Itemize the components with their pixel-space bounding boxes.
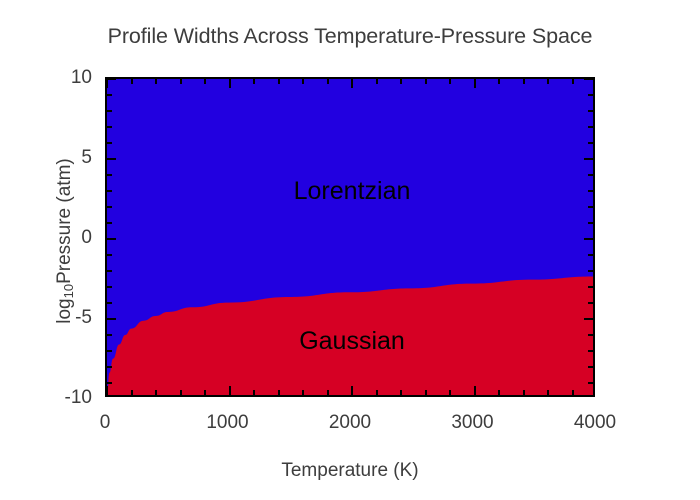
tick-y-minor-right xyxy=(588,302,593,304)
y-axis-title-subscript: 10 xyxy=(61,284,76,298)
tick-y-major-right xyxy=(584,318,593,320)
tick-y-minor xyxy=(107,94,112,96)
tick-y-minor xyxy=(107,350,112,352)
tick-x-minor-top xyxy=(253,79,255,84)
tick-x-minor-top xyxy=(400,79,402,84)
tick-y-minor xyxy=(107,142,112,144)
tick-y-minor xyxy=(107,334,112,336)
plot-svg xyxy=(107,79,593,395)
x-axis-title: Temperature (K) xyxy=(105,460,595,482)
page-title: Profile Widths Across Temperature-Pressu… xyxy=(0,24,700,49)
tick-x-minor-top xyxy=(204,79,206,84)
tick-y-minor xyxy=(107,254,112,256)
tick-x-minor xyxy=(572,390,574,395)
x-tick-label: 4000 xyxy=(535,413,655,432)
tick-y-major-right xyxy=(584,78,593,80)
tick-x-minor-top xyxy=(278,79,280,84)
y-axis-title-prefix: log xyxy=(54,298,75,323)
x-tick-label: 2000 xyxy=(290,413,410,432)
tick-x-minor xyxy=(327,390,329,395)
tick-y-minor-right xyxy=(588,382,593,384)
y-tick-label: 0 xyxy=(81,228,92,247)
tick-x-major-top xyxy=(106,79,108,88)
tick-x-minor-top xyxy=(131,79,133,84)
tick-x-major xyxy=(474,386,476,395)
tick-x-minor-top xyxy=(376,79,378,84)
tick-y-minor-right xyxy=(588,222,593,224)
tick-x-minor xyxy=(547,390,549,395)
tick-x-minor-top xyxy=(155,79,157,84)
tick-y-minor-right xyxy=(588,190,593,192)
tick-x-minor-top xyxy=(547,79,549,84)
tick-y-minor xyxy=(107,206,112,208)
tick-y-minor-right xyxy=(588,350,593,352)
tick-y-major-right xyxy=(584,238,593,240)
tick-y-minor xyxy=(107,302,112,304)
tick-y-minor-right xyxy=(588,206,593,208)
chart-root: Profile Widths Across Temperature-Pressu… xyxy=(0,0,700,500)
tick-x-minor xyxy=(180,390,182,395)
y-axis-title-suffix: Pressure (atm) xyxy=(54,158,75,284)
tick-y-minor xyxy=(107,174,112,176)
tick-y-major xyxy=(107,318,116,320)
tick-x-minor-top xyxy=(523,79,525,84)
tick-x-minor-top xyxy=(449,79,451,84)
tick-x-minor xyxy=(131,390,133,395)
tick-x-major xyxy=(106,386,108,395)
y-tick-label: 5 xyxy=(81,148,92,167)
tick-y-minor-right xyxy=(588,334,593,336)
tick-x-minor xyxy=(425,390,427,395)
tick-x-minor xyxy=(302,390,304,395)
tick-x-minor xyxy=(278,390,280,395)
tick-y-major xyxy=(107,238,116,240)
tick-x-major-top xyxy=(474,79,476,88)
tick-y-minor-right xyxy=(588,126,593,128)
tick-y-minor xyxy=(107,382,112,384)
tick-y-major xyxy=(107,78,116,80)
y-tick-label: -5 xyxy=(75,308,92,327)
tick-x-minor-top xyxy=(302,79,304,84)
tick-x-minor-top xyxy=(498,79,500,84)
tick-x-minor xyxy=(204,390,206,395)
tick-x-minor-top xyxy=(425,79,427,84)
tick-x-major-top xyxy=(229,79,231,88)
tick-x-minor-top xyxy=(327,79,329,84)
tick-x-major xyxy=(351,386,353,395)
tick-y-minor-right xyxy=(588,270,593,272)
tick-y-minor xyxy=(107,190,112,192)
tick-x-minor-top xyxy=(180,79,182,84)
tick-x-major-top xyxy=(351,79,353,88)
tick-y-minor-right xyxy=(588,254,593,256)
tick-y-minor-right xyxy=(588,142,593,144)
tick-x-minor xyxy=(449,390,451,395)
tick-y-minor-right xyxy=(588,286,593,288)
tick-y-minor-right xyxy=(588,110,593,112)
tick-y-minor xyxy=(107,366,112,368)
tick-y-major-right xyxy=(584,158,593,160)
tick-y-minor xyxy=(107,110,112,112)
tick-x-minor-top xyxy=(572,79,574,84)
tick-y-minor xyxy=(107,286,112,288)
tick-x-minor xyxy=(498,390,500,395)
tick-y-minor xyxy=(107,126,112,128)
tick-x-minor xyxy=(376,390,378,395)
tick-y-major xyxy=(107,158,116,160)
tick-x-minor xyxy=(523,390,525,395)
tick-y-minor xyxy=(107,222,112,224)
tick-x-minor xyxy=(155,390,157,395)
tick-y-minor xyxy=(107,270,112,272)
x-tick-label: 3000 xyxy=(413,413,533,432)
x-tick-label: 1000 xyxy=(168,413,288,432)
tick-x-major xyxy=(229,386,231,395)
tick-x-minor xyxy=(253,390,255,395)
tick-x-minor xyxy=(400,390,402,395)
y-axis-title: log10Pressure (atm) xyxy=(54,41,76,441)
tick-y-minor-right xyxy=(588,174,593,176)
tick-y-minor-right xyxy=(588,94,593,96)
tick-y-minor-right xyxy=(588,366,593,368)
plot-area: Lorentzian Gaussian xyxy=(105,77,595,397)
